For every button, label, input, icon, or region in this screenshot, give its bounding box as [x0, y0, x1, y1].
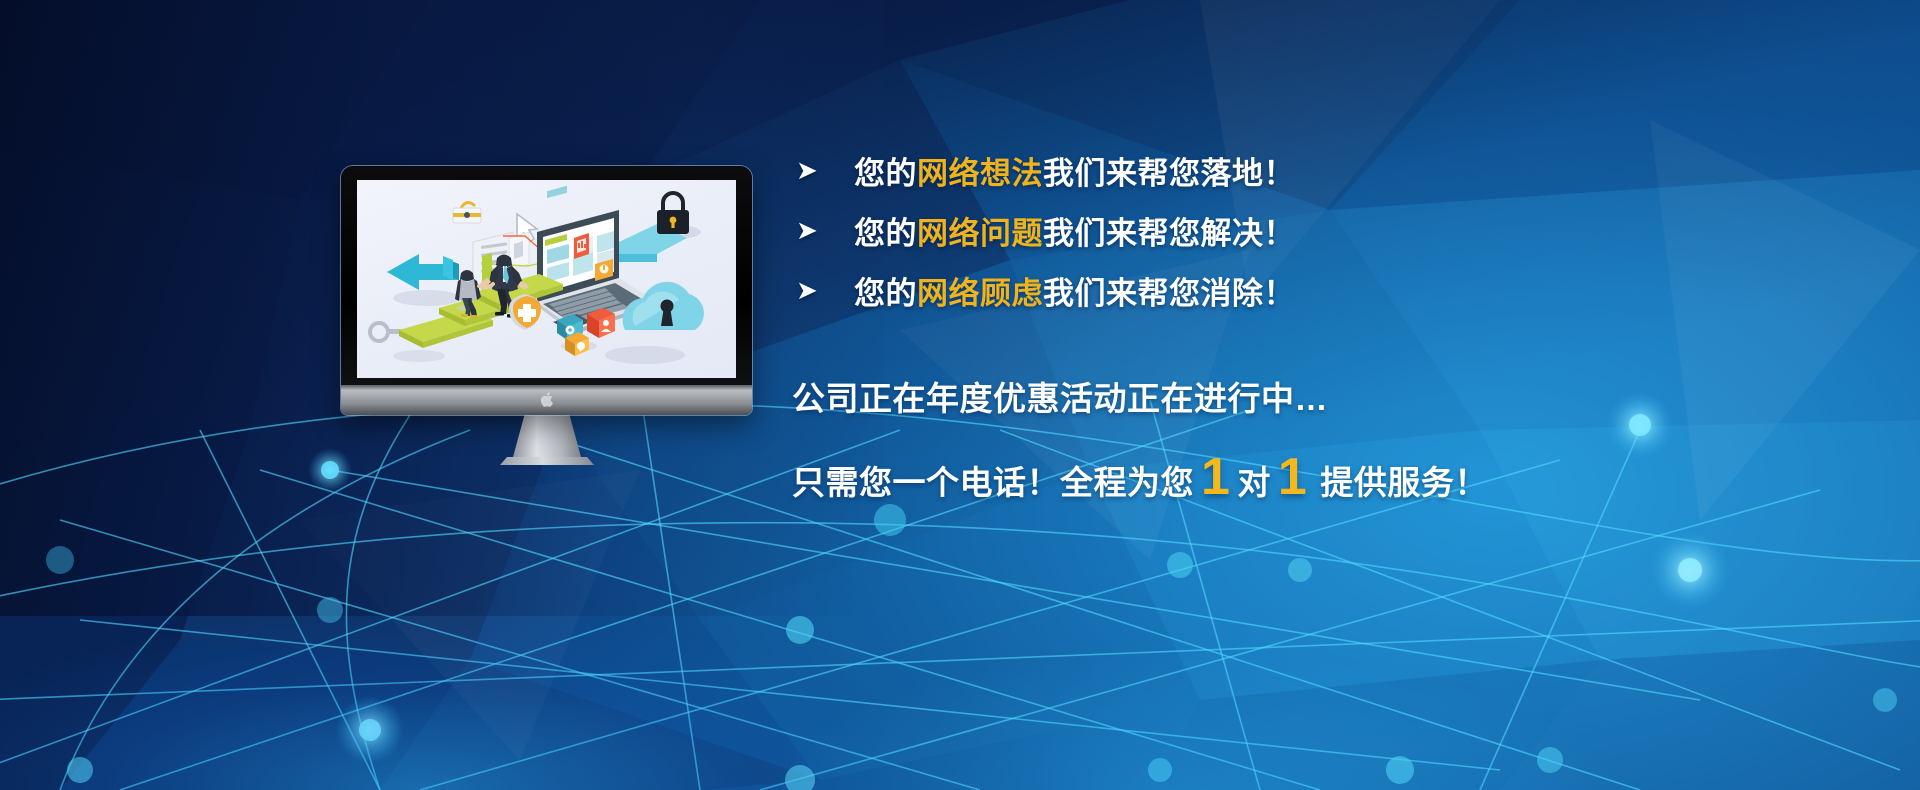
cta-number-second: 1	[1271, 457, 1314, 499]
bullet-text-3: 您的网络顾虑我们来帮您消除！	[854, 268, 1295, 313]
bullet-line-2: ➤ 您的网络问题我们来帮您解决！	[796, 200, 1696, 260]
padlock-open-icon	[453, 202, 481, 223]
monitor-chin	[341, 385, 752, 415]
isometric-illustration	[357, 180, 736, 378]
copy-block: ➤ 您的网络想法我们来帮您落地！ ➤ 您的网络问题我们来帮您解决！ ➤ 您的网络…	[796, 140, 1696, 504]
arrow-bullet-icon: ➤	[796, 277, 826, 303]
bullet-line-1: ➤ 您的网络想法我们来帮您落地！	[796, 140, 1696, 200]
cta-part1: 只需您一个电话！全程为您	[792, 456, 1194, 504]
bullet-2-pre: 您的	[854, 216, 917, 251]
bullet-line-3: ➤ 您的网络顾虑我们来帮您消除！	[796, 260, 1696, 320]
apple-logo-icon	[540, 392, 553, 407]
cta-middle: 对	[1237, 456, 1271, 504]
arrow-bullet-icon: ➤	[796, 157, 826, 183]
monitor-bezel	[341, 166, 752, 415]
bullet-text-1: 您的网络想法我们来帮您落地！	[854, 148, 1295, 193]
arrow-left-shape	[387, 254, 459, 290]
cta-part2: 提供服务！	[1320, 456, 1488, 504]
arrow-bullet-icon: ➤	[796, 217, 826, 243]
padlock-closed-icon	[657, 193, 689, 234]
bullet-1-post: 我们来帮您落地！	[1043, 156, 1295, 191]
cta-line: 只需您一个电话！全程为您 1 对 1 提供服务！	[792, 456, 1696, 504]
shield-plus-icon	[509, 294, 541, 330]
bullet-1-pre: 您的	[854, 156, 917, 191]
app-icon-user	[587, 308, 615, 338]
promo-headline: 公司正在年度优惠活动正在进行中…	[792, 372, 1696, 420]
bullet-text-2: 您的网络问题我们来帮您解决！	[854, 208, 1295, 253]
imac-monitor	[341, 166, 752, 466]
bullet-3-pre: 您的	[854, 276, 917, 311]
monitor-stand	[495, 413, 599, 466]
cta-number-first: 1	[1194, 457, 1237, 499]
bullet-1-highlight: 网络想法	[917, 156, 1043, 191]
monitor-screen	[357, 180, 736, 378]
bullet-2-post: 我们来帮您解决！	[1043, 216, 1295, 251]
bullet-3-post: 我们来帮您消除！	[1043, 276, 1295, 311]
bullet-2-highlight: 网络问题	[917, 216, 1043, 251]
bullet-3-highlight: 网络顾虑	[917, 276, 1043, 311]
promo-banner: ➤ 您的网络想法我们来帮您落地！ ➤ 您的网络问题我们来帮您解决！ ➤ 您的网络…	[0, 0, 1920, 790]
